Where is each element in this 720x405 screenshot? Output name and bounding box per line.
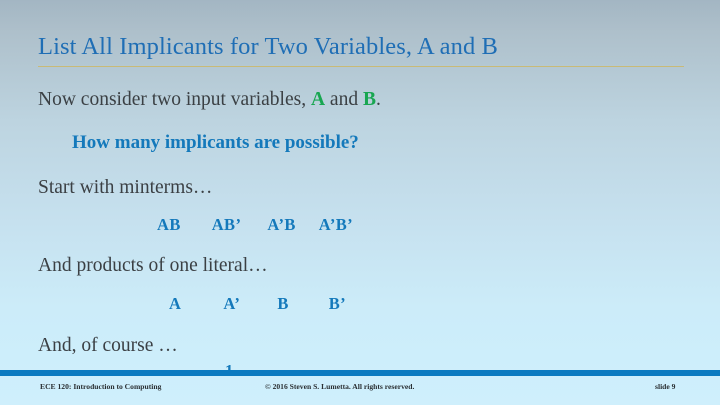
footer-copyright: © 2016 Steven S. Lumetta. All rights res… bbox=[265, 382, 414, 391]
minterms-row: ABAB’A’BA’B’ bbox=[38, 217, 698, 234]
minterms-label: Start with minterms… bbox=[38, 178, 698, 198]
literal-0: A bbox=[169, 296, 181, 313]
literal-2: B bbox=[277, 296, 288, 313]
title-divider bbox=[38, 66, 684, 68]
footer-accent-bar bbox=[0, 370, 720, 376]
intro-text-after: . bbox=[376, 89, 381, 110]
title-block: List All Implicants for Two Variables, A… bbox=[38, 34, 684, 67]
of-course-label: And, of course … bbox=[38, 336, 698, 356]
minterm-3: A’B’ bbox=[319, 217, 353, 234]
minterm-1: AB’ bbox=[212, 217, 242, 234]
footer: ECE 120: Introduction to Computing © 201… bbox=[0, 382, 720, 398]
one-literal-row: AA’BB’ bbox=[38, 296, 698, 313]
footer-slide-number: slide 9 bbox=[655, 382, 675, 391]
minterm-2: A’B bbox=[267, 217, 295, 234]
minterm-0: AB bbox=[157, 217, 181, 234]
footer-course: ECE 120: Introduction to Computing bbox=[40, 382, 161, 391]
literal-3: B’ bbox=[329, 296, 346, 313]
intro-line: Now consider two input variables, A and … bbox=[38, 90, 698, 110]
intro-text-middle: and bbox=[325, 89, 363, 110]
one-literal-label: And products of one literal… bbox=[38, 256, 698, 276]
variable-a: A bbox=[311, 89, 325, 110]
question-line: How many implicants are possible? bbox=[38, 133, 698, 152]
literal-1: A’ bbox=[223, 296, 240, 313]
slide-canvas: List All Implicants for Two Variables, A… bbox=[0, 0, 720, 405]
page-title: List All Implicants for Two Variables, A… bbox=[38, 34, 684, 60]
slide-body: Now consider two input variables, A and … bbox=[38, 90, 698, 380]
variable-b: B bbox=[363, 89, 376, 110]
intro-text-before: Now consider two input variables, bbox=[38, 89, 311, 110]
